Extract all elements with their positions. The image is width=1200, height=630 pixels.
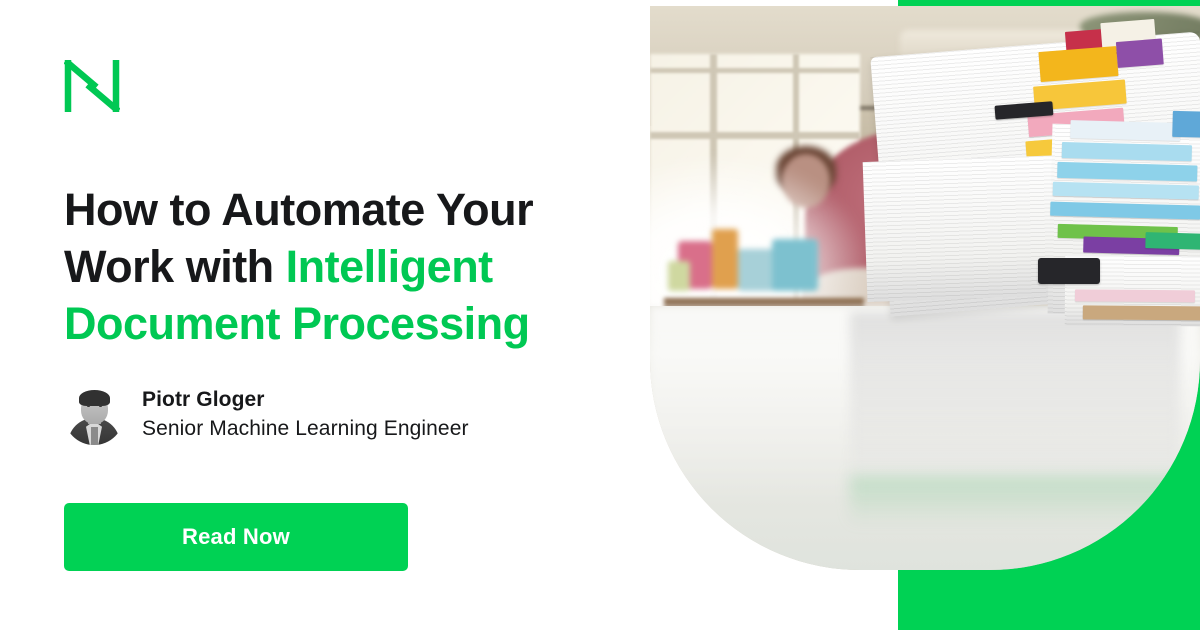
avatar-eye bbox=[87, 405, 90, 407]
photo-paper-stack bbox=[650, 6, 1200, 570]
hero-photo bbox=[650, 6, 1200, 570]
author-text: Piotr Gloger Senior Machine Learning Eng… bbox=[142, 386, 469, 444]
paper-tab bbox=[1116, 38, 1164, 68]
avatar-tie bbox=[91, 427, 98, 445]
paper-tab bbox=[1172, 111, 1200, 138]
social-card: How to Automate Your Work with Intellige… bbox=[0, 0, 1200, 630]
avatar-hair bbox=[79, 390, 110, 406]
paper-tab bbox=[1038, 46, 1118, 82]
headline-line-2-accent: Intelligent bbox=[286, 241, 493, 292]
author-block: Piotr Gloger Senior Machine Learning Eng… bbox=[64, 385, 469, 445]
avatar bbox=[64, 385, 124, 445]
headline-line-2-plain: Work with bbox=[64, 241, 286, 292]
paper-tab bbox=[1145, 232, 1200, 250]
paper-tab bbox=[1062, 142, 1192, 161]
author-name: Piotr Gloger bbox=[142, 386, 469, 414]
hero-visual bbox=[620, 0, 1200, 630]
page-title: How to Automate Your Work with Intellige… bbox=[64, 181, 604, 352]
n-logo-icon[interactable] bbox=[64, 60, 120, 112]
paper-tab bbox=[1075, 289, 1195, 302]
headline-line-1: How to Automate Your bbox=[64, 184, 533, 235]
paper-binder-clip bbox=[1038, 258, 1100, 284]
photo-scene bbox=[650, 6, 1200, 570]
paper-tab bbox=[1083, 305, 1200, 320]
author-role: Senior Machine Learning Engineer bbox=[142, 414, 469, 444]
avatar-eye bbox=[99, 405, 102, 407]
paper-tab bbox=[1070, 120, 1180, 141]
headline-line-3-accent: Document Processing bbox=[64, 298, 530, 349]
read-now-button[interactable]: Read Now bbox=[64, 503, 408, 571]
